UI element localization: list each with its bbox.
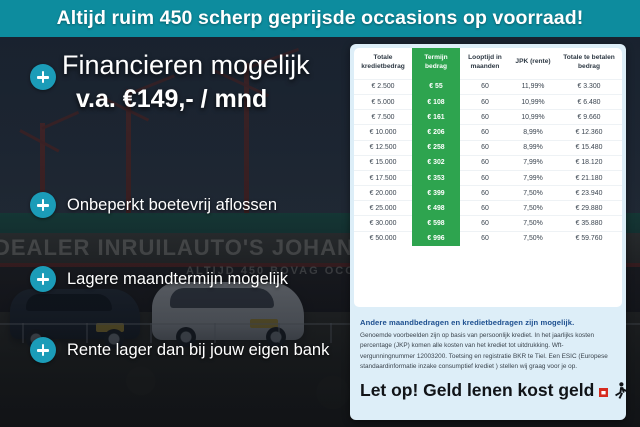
headline-banner-text: Altijd ruim 450 scherp geprijsde occasio…: [57, 7, 584, 30]
table-cell: 7,99%: [510, 170, 556, 185]
table-cell: € 20.000: [354, 186, 412, 201]
table-cell: € 258: [412, 140, 460, 155]
table-cell: € 25.000: [354, 201, 412, 216]
headline-banner: Altijd ruim 450 scherp geprijsde occasio…: [0, 0, 640, 37]
loan-warning-text: Let op! Geld lenen kost geld: [360, 380, 594, 401]
financing-table: Totale kredietbedrag Termijn bedrag Loop…: [354, 48, 622, 246]
disclaimer-heading: Andere maandbedragen en kredietbedragen …: [360, 318, 616, 327]
table-row: € 5.000€ 1086010,99%€ 6.480: [354, 94, 622, 109]
table-row: € 7.500€ 1616010,99%€ 9.660: [354, 110, 622, 125]
table-cell: € 15.480: [556, 140, 622, 155]
table-cell: € 17.500: [354, 170, 412, 185]
table-cell: € 29.880: [556, 201, 622, 216]
plus-icon: [30, 192, 56, 218]
table-cell: € 35.880: [556, 216, 622, 231]
table-cell: 7,99%: [510, 155, 556, 170]
table-cell: € 7.500: [354, 110, 412, 125]
benefit-item-2: Lagere maandtermijn mogelijk: [30, 266, 288, 292]
disclaimer-body: Genoemde voorbeelden zijn op basis van p…: [360, 331, 616, 373]
benefit-item-2-label: Lagere maandtermijn mogelijk: [67, 270, 288, 289]
table-cell: 7,50%: [510, 216, 556, 231]
table-row: € 25.000€ 498607,50%€ 29.880: [354, 201, 622, 216]
benefit-item-1: Onbeperkt boetevrij aflossen: [30, 192, 277, 218]
table-cell: € 206: [412, 125, 460, 140]
table-cell: 60: [460, 231, 510, 246]
benefit-item-1-label: Onbeperkt boetevrij aflossen: [67, 196, 277, 215]
table-cell: € 59.760: [556, 231, 622, 246]
column-header-interest: JPK (rente): [510, 48, 556, 79]
table-cell: 60: [460, 110, 510, 125]
table-cell: € 21.180: [556, 170, 622, 185]
table-cell: 7,50%: [510, 186, 556, 201]
table-cell: € 399: [412, 186, 460, 201]
table-row: € 12.500€ 258608,99%€ 15.480: [354, 140, 622, 155]
table-cell: 11,99%: [510, 79, 556, 94]
hero-line-2: v.a. €149,- / mnd: [76, 85, 267, 114]
plus-icon: [30, 337, 56, 363]
hero-line-1: Financieren mogelijk: [62, 50, 310, 81]
table-cell: 60: [460, 216, 510, 231]
hero-bullet: [30, 64, 56, 90]
financing-table-container: Totale kredietbedrag Termijn bedrag Loop…: [354, 48, 622, 307]
table-cell: 7,50%: [510, 231, 556, 246]
table-row: € 10.000€ 206608,99%€ 12.360: [354, 125, 622, 140]
column-header-duration: Looptijd in maanden: [460, 48, 510, 79]
table-cell: € 996: [412, 231, 460, 246]
table-row: € 15.000€ 302607,99%€ 18.120: [354, 155, 622, 170]
table-header-row: Totale kredietbedrag Termijn bedrag Loop…: [354, 48, 622, 79]
table-row: € 2.500€ 556011,99%€ 3.300: [354, 79, 622, 94]
table-cell: 10,99%: [510, 94, 556, 109]
table-cell: € 108: [412, 94, 460, 109]
table-cell: 8,99%: [510, 140, 556, 155]
table-cell: € 30.000: [354, 216, 412, 231]
table-row: € 30.000€ 598607,50%€ 35.880: [354, 216, 622, 231]
column-header-total-payable: Totale te betalen bedrag: [556, 48, 622, 79]
table-cell: € 18.120: [556, 155, 622, 170]
promo-banner-image: DEALER INRUILAUTO'S JOHAN MEURE ALTIJD 4…: [0, 0, 640, 427]
table-cell: € 9.660: [556, 110, 622, 125]
table-cell: € 15.000: [354, 155, 412, 170]
financing-card: Totale kredietbedrag Termijn bedrag Loop…: [350, 44, 626, 420]
table-cell: € 3.300: [556, 79, 622, 94]
disclaimer-block: Andere maandbedragen en kredietbedragen …: [360, 318, 616, 373]
table-cell: € 6.480: [556, 94, 622, 109]
benefit-item-3-label: Rente lager dan bij jouw eigen bank: [67, 341, 329, 360]
table-cell: € 161: [412, 110, 460, 125]
column-header-total-credit: Totale kredietbedrag: [354, 48, 412, 79]
table-cell: € 353: [412, 170, 460, 185]
table-cell: 60: [460, 155, 510, 170]
table-cell: 60: [460, 140, 510, 155]
table-cell: 60: [460, 201, 510, 216]
table-row: € 20.000€ 399607,50%€ 23.940: [354, 186, 622, 201]
table-cell: € 23.940: [556, 186, 622, 201]
table-cell: 10,99%: [510, 110, 556, 125]
benefits-list: Financieren mogelijk v.a. €149,- / mnd O…: [0, 37, 352, 427]
table-row: € 50.000€ 996607,50%€ 59.760: [354, 231, 622, 246]
financing-table-body: € 2.500€ 556011,99%€ 3.300€ 5.000€ 10860…: [354, 79, 622, 246]
table-cell: € 2.500: [354, 79, 412, 94]
column-header-monthly-amount: Termijn bedrag: [412, 48, 460, 79]
loan-warning: Let op! Geld lenen kost geld: [360, 380, 626, 401]
running-man-icon: [599, 381, 626, 401]
table-cell: 60: [460, 79, 510, 94]
table-cell: 60: [460, 125, 510, 140]
table-cell: € 598: [412, 216, 460, 231]
table-cell: € 12.500: [354, 140, 412, 155]
benefit-item-3: Rente lager dan bij jouw eigen bank: [30, 337, 329, 363]
table-cell: € 12.360: [556, 125, 622, 140]
table-row: € 17.500€ 353607,99%€ 21.180: [354, 170, 622, 185]
table-cell: 60: [460, 186, 510, 201]
table-cell: 60: [460, 170, 510, 185]
plus-icon: [30, 64, 56, 90]
table-cell: € 55: [412, 79, 460, 94]
plus-icon: [30, 266, 56, 292]
table-cell: € 10.000: [354, 125, 412, 140]
table-cell: 8,99%: [510, 125, 556, 140]
table-cell: 60: [460, 94, 510, 109]
table-cell: € 50.000: [354, 231, 412, 246]
table-cell: € 302: [412, 155, 460, 170]
table-cell: € 5.000: [354, 94, 412, 109]
table-cell: € 498: [412, 201, 460, 216]
table-cell: 7,50%: [510, 201, 556, 216]
